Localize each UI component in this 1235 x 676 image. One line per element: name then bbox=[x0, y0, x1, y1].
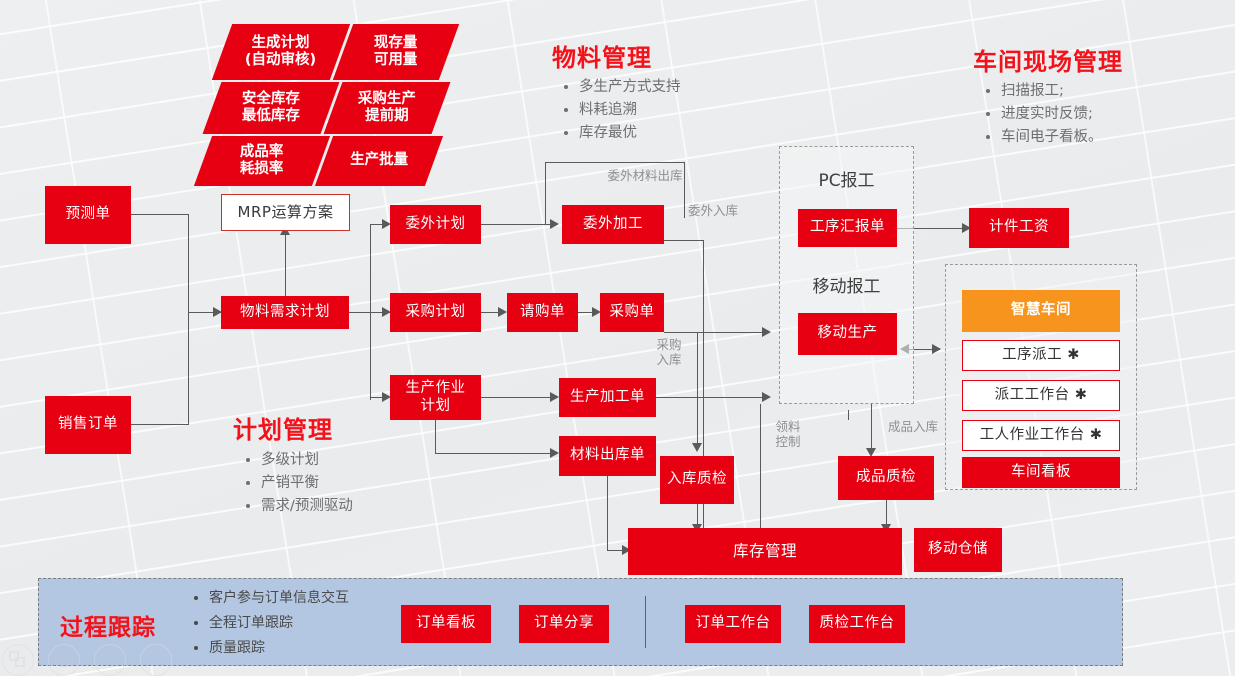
button-order-share[interactable]: 订单分享 bbox=[519, 605, 609, 643]
node-purchase-request[interactable]: 请购单 bbox=[507, 293, 578, 332]
arrow-right-smart bbox=[932, 344, 941, 354]
bullet-item: 全程订单跟踪 bbox=[209, 611, 349, 636]
node-process-report-form[interactable]: 工序汇报单 bbox=[798, 209, 897, 247]
edge-label-outsource-in: 委外入库 bbox=[668, 203, 758, 218]
star-icon: ✱ bbox=[1075, 387, 1088, 404]
label-line2: 控制 bbox=[775, 434, 800, 449]
bullet-item: 扫描报工; bbox=[1001, 80, 1103, 103]
node-process-dispatch[interactable]: 工序派工 ✱ bbox=[962, 340, 1120, 371]
node-piece-rate-wage[interactable]: 计件工资 bbox=[969, 208, 1069, 248]
node-mobile-production[interactable]: 移动生产 bbox=[798, 313, 897, 355]
tag-line1: 现存量 bbox=[374, 35, 418, 51]
connector-join-vertical bbox=[188, 214, 189, 312]
bullet-item: 质量跟踪 bbox=[209, 636, 349, 661]
tag-line1: 成品率 bbox=[240, 144, 284, 160]
arrow-workorder-panel bbox=[762, 392, 771, 402]
label-line1: 采购 bbox=[656, 337, 681, 352]
section-title-material-management: 物料管理 bbox=[552, 38, 652, 73]
node-mrp-scheme[interactable]: MRP运算方案 bbox=[221, 194, 350, 231]
connector-outsource-material-top bbox=[545, 162, 685, 163]
tag-line1: 采购生产 bbox=[358, 91, 416, 107]
band-bullets: 客户参与订单信息交互 全程订单跟踪 质量跟踪 bbox=[190, 586, 349, 661]
node-worker-workbench[interactable]: 工人作业工作台 ✱ bbox=[962, 420, 1120, 451]
watermark-search-icon bbox=[94, 644, 126, 676]
section-title-workshop-management: 车间现场管理 bbox=[973, 42, 1123, 77]
tag-generate-plan: 生成计划(自动审核) bbox=[212, 24, 350, 80]
bullet-item: 需求/预测驱动 bbox=[261, 495, 353, 518]
tag-line2: 耗损率 bbox=[240, 161, 284, 177]
section-bullets-workshop-management: 扫描报工; 进度实时反馈; 车间电子看板。 bbox=[982, 80, 1103, 149]
connector-purchase-down bbox=[697, 332, 698, 444]
connector-outsource-out bbox=[664, 240, 704, 241]
diagram-canvas: 生成计划(自动审核) 现存量可用量 安全库存最低库存 采购生产提前期 成品率耗损… bbox=[0, 0, 1235, 676]
star-icon: ✱ bbox=[1067, 347, 1080, 364]
watermark-more-icon bbox=[140, 644, 172, 676]
connector-finished-down bbox=[871, 404, 872, 452]
section-bullets-material-management: 多生产方式支持 料耗追溯 库存最优 bbox=[560, 76, 681, 145]
node-mobile-warehouse[interactable]: 移动仓储 bbox=[914, 528, 1002, 572]
tag-line2: 最低库存 bbox=[242, 108, 300, 124]
arrow-material-issue bbox=[550, 448, 559, 458]
connector-purchase-right bbox=[664, 332, 764, 333]
button-order-kanban[interactable]: 订单看板 bbox=[401, 605, 491, 643]
connector-jobplan-to-workorder bbox=[481, 397, 556, 398]
connector-join-vertical-lower bbox=[188, 312, 189, 425]
connector-panel-stub bbox=[848, 410, 849, 420]
band-title: 过程跟踪 bbox=[60, 608, 156, 642]
bullet-item: 多级计划 bbox=[261, 449, 353, 472]
node-forecast-order[interactable]: 预测单 bbox=[45, 186, 131, 244]
arrow-production-work-order bbox=[550, 392, 559, 402]
node-finished-quality-check[interactable]: 成品质检 bbox=[838, 456, 934, 500]
node-sales-order[interactable]: 销售订单 bbox=[45, 396, 131, 454]
tag-line2: 提前期 bbox=[365, 108, 409, 124]
item-label: 工序派工 bbox=[1002, 347, 1062, 364]
bullet-item: 多生产方式支持 bbox=[579, 76, 681, 99]
label-line1: 领料 bbox=[775, 419, 800, 434]
star-icon: ✱ bbox=[1090, 427, 1103, 444]
button-qc-workbench[interactable]: 质检工作台 bbox=[809, 605, 905, 643]
bullet-item: 客户参与订单信息交互 bbox=[209, 586, 349, 611]
connector-sales-to-join bbox=[130, 424, 189, 425]
bullet-item: 车间电子看板。 bbox=[1001, 126, 1103, 149]
tag-line2: (自动审核) bbox=[245, 52, 316, 68]
connector-mrp-up bbox=[285, 232, 286, 296]
node-material-requirement-plan[interactable]: 物料需求计划 bbox=[221, 296, 349, 329]
watermark-copy-icon bbox=[48, 644, 80, 676]
node-material-issue-note[interactable]: 材料出库单 bbox=[559, 436, 656, 476]
bullet-item: 料耗追溯 bbox=[579, 99, 681, 122]
connector-mrp-branch-vertical bbox=[370, 224, 371, 400]
bullet-item: 产销平衡 bbox=[261, 472, 353, 495]
tag-line2: 可用量 bbox=[374, 52, 418, 68]
section-title-plan-management: 计划管理 bbox=[233, 410, 333, 445]
connector-outsource-material-up bbox=[545, 162, 546, 225]
edge-label-pick-control: 领料 控制 bbox=[766, 419, 810, 449]
node-production-work-order[interactable]: 生产加工单 bbox=[559, 378, 656, 417]
node-line2: 计划 bbox=[421, 398, 451, 414]
button-order-workbench[interactable]: 订单工作台 bbox=[685, 605, 781, 643]
tag-safety-stock: 安全库存最低库存 bbox=[203, 82, 340, 134]
edge-label-purchase-in: 采购 入库 bbox=[647, 337, 691, 367]
tag-purchase-leadtime: 采购生产提前期 bbox=[324, 82, 451, 134]
node-production-job-plan[interactable]: 生产作业 计划 bbox=[390, 375, 481, 420]
node-line1: 生产作业 bbox=[406, 380, 466, 396]
item-label: 工人作业工作台 bbox=[980, 427, 1085, 444]
watermark-grid-icon bbox=[2, 644, 34, 676]
node-outsource-process[interactable]: 委外加工 bbox=[562, 205, 664, 244]
arrow-purchase-request bbox=[498, 307, 507, 317]
band-divider bbox=[645, 596, 646, 648]
node-purchase-order[interactable]: 采购单 bbox=[600, 293, 664, 332]
connector-pick-control bbox=[760, 404, 761, 530]
tag-line1: 生成计划 bbox=[252, 35, 310, 51]
tag-production-batch: 生产批量 bbox=[315, 136, 443, 186]
edge-label-outsource-material-out: 委外材料出库 bbox=[590, 168, 700, 183]
arrow-to-report-panel bbox=[762, 327, 771, 337]
tag-yield-loss-rate: 成品率耗损率 bbox=[194, 136, 330, 186]
node-inventory-management[interactable]: 库存管理 bbox=[628, 528, 902, 575]
tag-line1: 生产批量 bbox=[350, 152, 408, 168]
node-outsource-plan[interactable]: 委外计划 bbox=[390, 205, 481, 244]
tag-stock-available: 现存量可用量 bbox=[333, 24, 459, 80]
arrow-outsource-process bbox=[550, 219, 559, 229]
connector-issue-down bbox=[607, 476, 608, 550]
connector-workorder-to-panel bbox=[656, 397, 764, 398]
node-purchase-plan[interactable]: 采购计划 bbox=[390, 293, 481, 332]
section-bullets-plan-management: 多级计划 产销平衡 需求/预测驱动 bbox=[242, 449, 353, 518]
connector-forecast-to-join bbox=[130, 214, 189, 215]
panel-label-mobile-report: 移动报工 bbox=[779, 272, 914, 297]
tag-line1: 安全库存 bbox=[242, 91, 300, 107]
bullet-item: 进度实时反馈; bbox=[1001, 103, 1103, 126]
connector-jobplan-to-issue bbox=[435, 453, 555, 454]
arrow-inbound-qc bbox=[692, 443, 702, 452]
label-line2: 入库 bbox=[656, 352, 681, 367]
node-workshop-kanban[interactable]: 车间看板 bbox=[962, 457, 1120, 488]
bullet-item: 库存最优 bbox=[579, 122, 681, 145]
item-label: 派工工作台 bbox=[995, 387, 1070, 404]
edge-label-finished-goods-in: 成品入库 bbox=[878, 419, 948, 434]
panel-label-pc-report: PC报工 bbox=[779, 166, 914, 191]
node-inbound-quality-check[interactable]: 入库质检 bbox=[660, 456, 734, 504]
node-smart-workshop-header: 智慧车间 bbox=[962, 290, 1120, 332]
node-dispatch-workbench[interactable]: 派工工作台 ✱ bbox=[962, 380, 1120, 411]
